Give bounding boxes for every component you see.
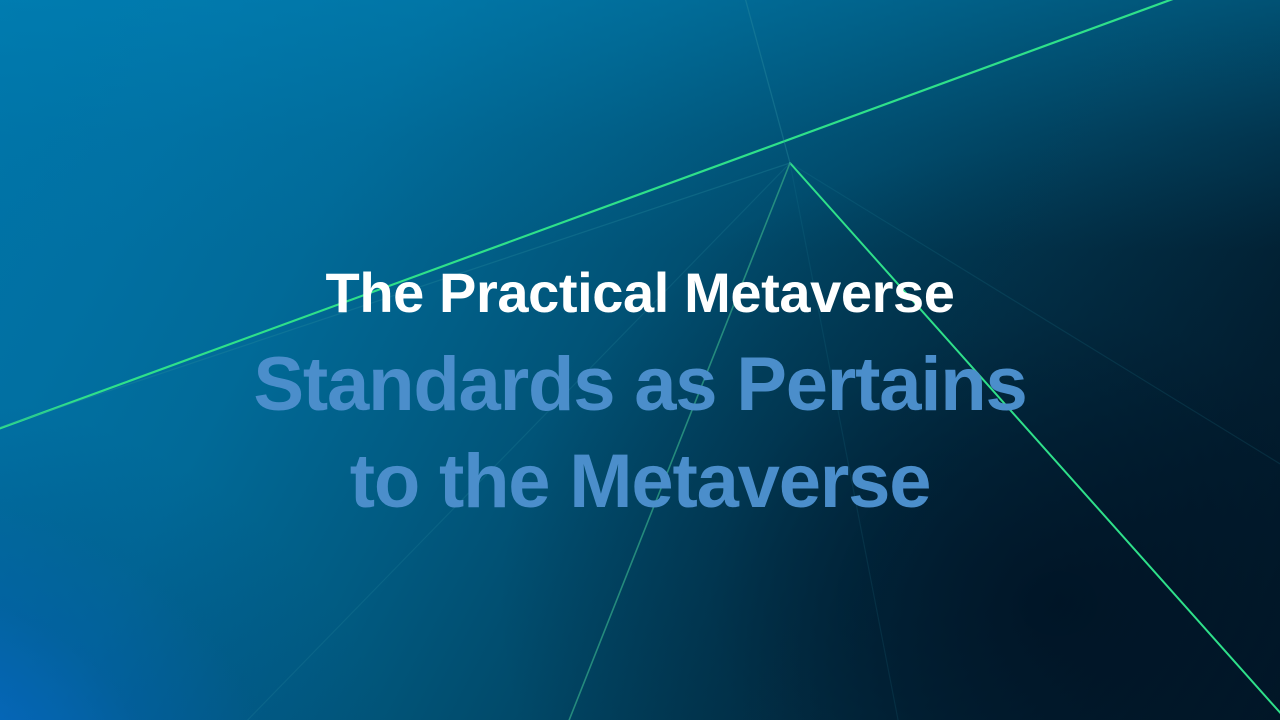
page-title: The Practical Metaverse bbox=[0, 262, 1280, 324]
background-top-sheen bbox=[0, 0, 1280, 250]
ray-faint-center-to-topleftshort bbox=[744, 0, 790, 163]
page-subtitle: Standards as Pertains to the Metaverse bbox=[0, 336, 1280, 531]
subtitle-line-1: Standards as Pertains bbox=[0, 336, 1280, 433]
presentation-slide: The Practical Metaverse Standards as Per… bbox=[0, 0, 1280, 720]
subtitle-line-2: to the Metaverse bbox=[0, 433, 1280, 530]
title-text-block: The Practical Metaverse Standards as Per… bbox=[0, 262, 1280, 530]
